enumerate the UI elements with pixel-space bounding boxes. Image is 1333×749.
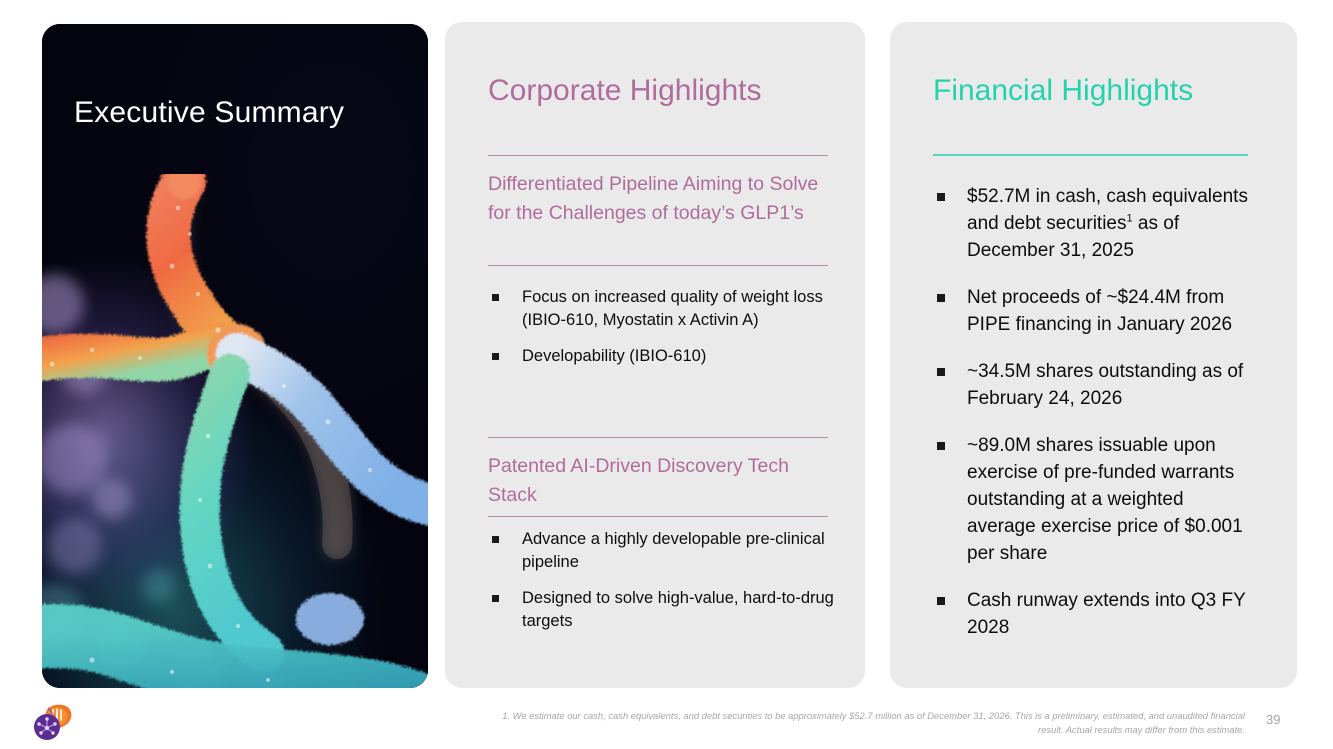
corporate-bullet-list-1: Focus on increased quality of weight los… xyxy=(490,286,835,381)
company-logo xyxy=(30,702,74,742)
corporate-highlights-title: Corporate Highlights xyxy=(488,74,761,108)
list-item: Designed to solve high-value, hard-to-dr… xyxy=(490,587,835,633)
corporate-section-heading-2: Patented AI-Driven Discovery Tech Stack xyxy=(488,452,824,510)
corporate-section-heading-1: Differentiated Pipeline Aiming to Solve … xyxy=(488,170,824,228)
financial-highlights-title: Financial Highlights xyxy=(933,74,1193,108)
footnote: 1. We estimate our cash, cash equivalent… xyxy=(500,709,1245,737)
corporate-highlights-panel: Corporate Highlights Differentiated Pipe… xyxy=(445,22,865,688)
page-number: 39 xyxy=(1266,712,1280,727)
divider-corporate-4 xyxy=(488,516,828,517)
list-item: ~34.5M shares outstanding as of February… xyxy=(935,358,1255,412)
list-item: Advance a highly developable pre-clinica… xyxy=(490,528,835,574)
list-item: Developability (IBIO-610) xyxy=(490,345,835,368)
list-item-text: $52.7M in cash, cash equivalents and deb… xyxy=(967,186,1248,234)
list-item: Net proceeds of ~$24.4M from PIPE financ… xyxy=(935,284,1255,338)
corporate-bullet-list-2: Advance a highly developable pre-clinica… xyxy=(490,528,835,646)
executive-summary-card: Executive Summary xyxy=(42,24,428,688)
financial-bullet-list: $52.7M in cash, cash equivalents and deb… xyxy=(935,183,1255,661)
protein-molecule-illustration xyxy=(42,174,428,688)
divider-financial xyxy=(933,154,1248,156)
divider-corporate-3 xyxy=(488,437,828,438)
divider-corporate-1 xyxy=(488,155,828,156)
list-item: Cash runway extends into Q3 FY 2028 xyxy=(935,587,1255,641)
list-item: Focus on increased quality of weight los… xyxy=(490,286,835,332)
financial-highlights-panel: Financial Highlights $52.7M in cash, cas… xyxy=(890,22,1297,688)
list-item: ~89.0M shares issuable upon exercise of … xyxy=(935,432,1255,567)
list-item: $52.7M in cash, cash equivalents and deb… xyxy=(935,183,1255,264)
page-title: Executive Summary xyxy=(74,96,344,130)
divider-corporate-2 xyxy=(488,265,828,266)
